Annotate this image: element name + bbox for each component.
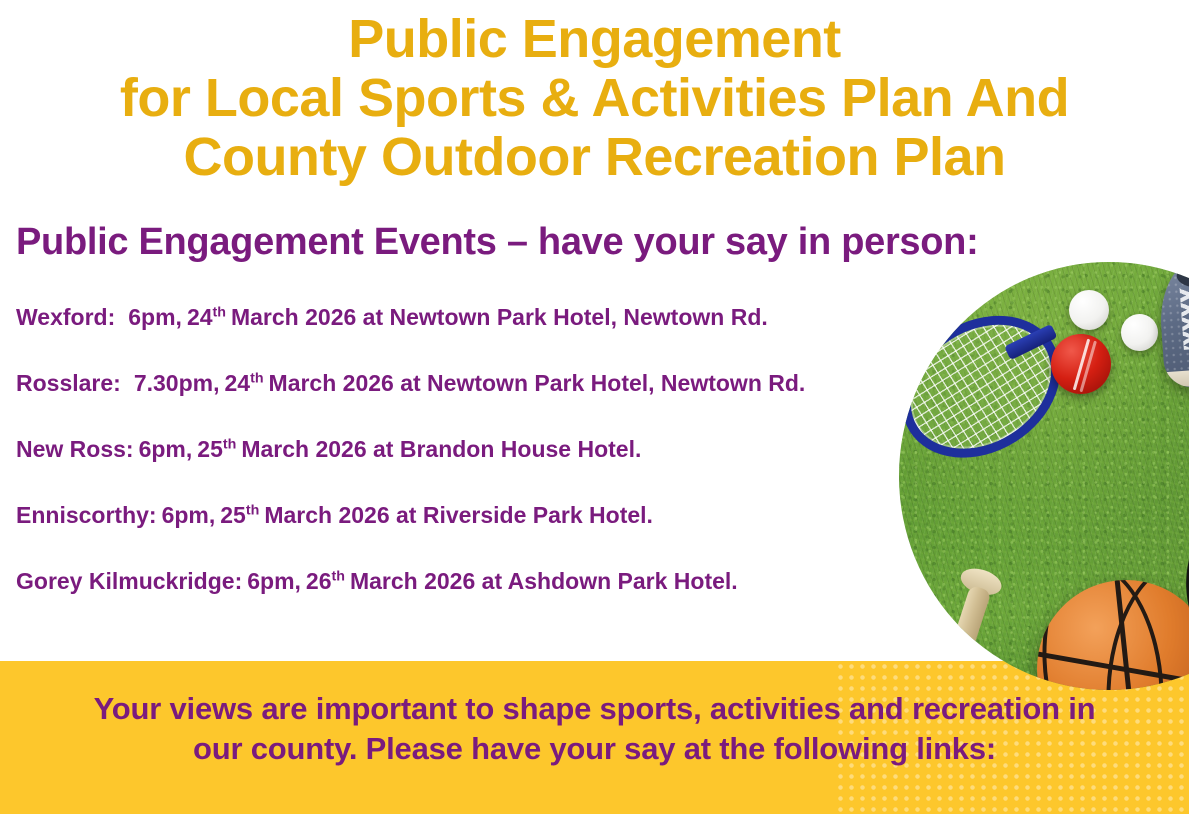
event-row: Wexford:6pm,24thMarch 2026 at Newtown Pa…: [16, 303, 916, 331]
banner-line-1: Your views are important to shape sports…: [0, 689, 1189, 729]
event-ordinal: th: [332, 568, 345, 584]
sports-equipment-photo: [899, 262, 1189, 690]
event-day: 24: [224, 370, 250, 396]
event-day: 24: [187, 304, 213, 330]
poster-title: Public Engagement for Local Sports & Act…: [0, 10, 1189, 187]
event-day: 25: [197, 436, 223, 462]
event-place: Enniscorthy:: [16, 502, 157, 528]
event-day: 25: [220, 502, 246, 528]
event-ordinal: th: [250, 370, 263, 386]
banner-line-2: our county. Please have your say at the …: [0, 729, 1189, 769]
events-list: Wexford:6pm,24thMarch 2026 at Newtown Pa…: [16, 303, 916, 633]
banner-message: Your views are important to shape sports…: [0, 689, 1189, 769]
event-place: Rosslare:: [16, 370, 121, 396]
event-time: 7.30pm,: [134, 370, 220, 396]
golf-ball-icon: [1121, 314, 1158, 351]
event-ordinal: th: [246, 502, 259, 518]
title-line-1: Public Engagement: [0, 10, 1189, 69]
event-details: March 2026 at Ashdown Park Hotel.: [350, 568, 738, 594]
golf-ball-icon: [1069, 290, 1109, 330]
event-time: 6pm,: [128, 304, 182, 330]
event-time: 6pm,: [139, 436, 193, 462]
event-place: Gorey Kilmuckridge:: [16, 568, 242, 594]
event-ordinal: th: [213, 304, 226, 320]
event-place: Wexford:: [16, 304, 115, 330]
poster-canvas: Public Engagement for Local Sports & Act…: [0, 0, 1189, 814]
cricket-ball-icon: [1051, 334, 1111, 394]
event-day: 26: [306, 568, 332, 594]
event-details: March 2026 at Riverside Park Hotel.: [264, 502, 653, 528]
event-details: March 2026 at Brandon House Hotel.: [241, 436, 641, 462]
event-ordinal: th: [223, 436, 236, 452]
event-time: 6pm,: [162, 502, 216, 528]
event-row: Enniscorthy:6pm,25thMarch 2026 at Rivers…: [16, 501, 916, 529]
title-line-3: County Outdoor Recreation Plan: [0, 128, 1189, 187]
event-time: 6pm,: [247, 568, 301, 594]
event-row: New Ross:6pm,25thMarch 2026 at Brandon H…: [16, 435, 916, 463]
event-place: New Ross:: [16, 436, 134, 462]
event-details: March 2026 at Newtown Park Hotel, Newtow…: [269, 370, 806, 396]
event-row: Gorey Kilmuckridge:6pm,26thMarch 2026 at…: [16, 567, 916, 595]
event-row: Rosslare:7.30pm,24thMarch 2026 at Newtow…: [16, 369, 916, 397]
event-details: March 2026 at Newtown Park Hotel, Newtow…: [231, 304, 768, 330]
title-line-2: for Local Sports & Activities Plan And: [0, 69, 1189, 128]
basketball-icon: [1037, 580, 1189, 690]
section-subheading: Public Engagement Events – have your say…: [16, 219, 978, 265]
